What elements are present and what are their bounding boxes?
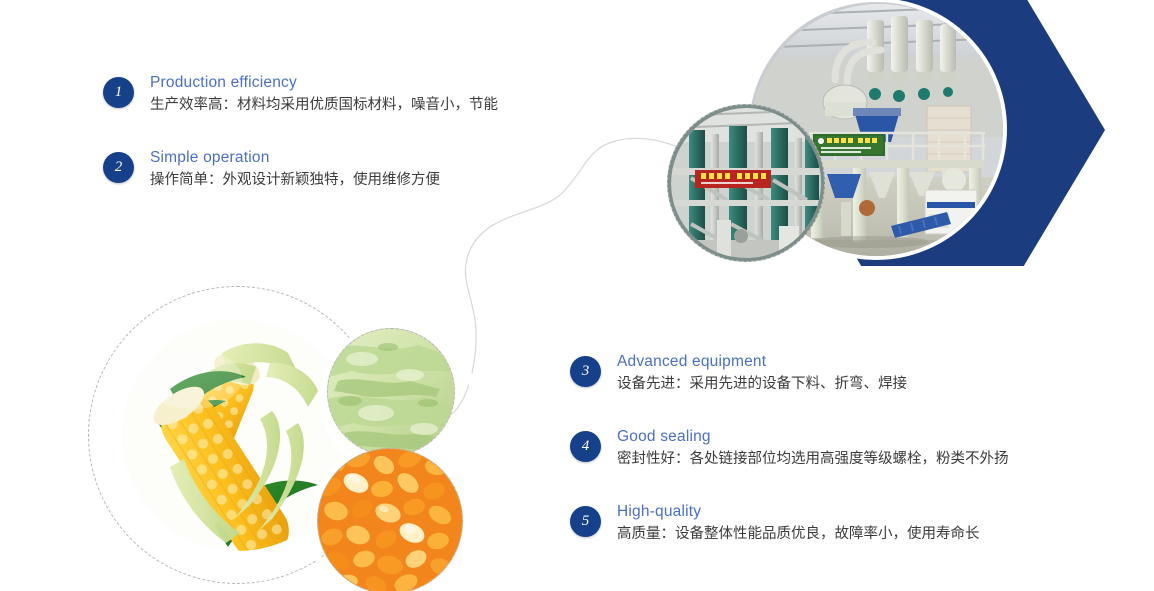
feature-desc-2: 操作简单：外观设计新颖独特，使用维修方便: [150, 169, 440, 191]
feature-title-1: Production efficiency: [150, 72, 498, 93]
feature-item-2[interactable]: 2 Simple operation 操作简单：外观设计新颖独特，使用维修方便: [103, 152, 440, 191]
feature-item-1[interactable]: 1 Production efficiency 生产效率高：材料均采用优质国标材…: [103, 77, 498, 116]
feature-title-3: Advanced equipment: [617, 351, 907, 372]
corn-flour-green-photo: [328, 329, 454, 455]
feature-item-4[interactable]: 4 Good sealing 密封性好：各处链接部位均选用高强度等级螺栓，粉类不…: [570, 431, 1009, 470]
feature-item-5[interactable]: 5 High-quality 高质量：设备整体性能品质优良，故障率小，使用寿命长: [570, 506, 980, 545]
feature-title-5: High-quality: [617, 501, 980, 522]
corn-grits-photo-circle[interactable]: [317, 448, 463, 591]
feature-desc-3: 设备先进：采用先进的设备下料、折弯、焊接: [617, 373, 907, 395]
feature-text-3: Advanced equipment 设备先进：采用先进的设备下料、折弯、焊接: [617, 351, 907, 395]
corn-grits-photo: [318, 449, 462, 591]
corn-photo-group: [88, 282, 468, 591]
feature-badge-3: 3: [570, 356, 601, 387]
feature-text-2: Simple operation 操作简单：外观设计新颖独特，使用维修方便: [150, 147, 440, 191]
feature-text-1: Production efficiency 生产效率高：材料均采用优质国标材料，…: [150, 72, 498, 116]
small-machine-photo-circle[interactable]: [667, 104, 825, 262]
machine-photo-group: [745, 0, 1075, 274]
feature-desc-5: 高质量：设备整体性能品质优良，故障率小，使用寿命长: [617, 523, 980, 545]
feature-desc-4: 密封性好：各处链接部位均选用高强度等级螺栓，粉类不外扬: [617, 448, 1009, 470]
feature-text-5: High-quality 高质量：设备整体性能品质优良，故障率小，使用寿命长: [617, 501, 980, 545]
feature-title-4: Good sealing: [617, 426, 1009, 447]
feature-badge-5: 5: [570, 506, 601, 537]
feature-item-3[interactable]: 3 Advanced equipment 设备先进：采用先进的设备下料、折弯、焊…: [570, 356, 907, 395]
feature-text-4: Good sealing 密封性好：各处链接部位均选用高强度等级螺栓，粉类不外扬: [617, 426, 1009, 470]
feature-badge-2: 2: [103, 152, 134, 183]
green-milling-line-photo: [671, 108, 821, 258]
feature-title-2: Simple operation: [150, 147, 440, 168]
feature-badge-1: 1: [103, 77, 134, 108]
infographic-canvas: 1 Production efficiency 生产效率高：材料均采用优质国标材…: [0, 0, 1154, 591]
feature-desc-1: 生产效率高：材料均采用优质国标材料，噪音小，节能: [150, 94, 498, 116]
feature-badge-4: 4: [570, 431, 601, 462]
green-flour-photo-circle[interactable]: [327, 328, 455, 456]
